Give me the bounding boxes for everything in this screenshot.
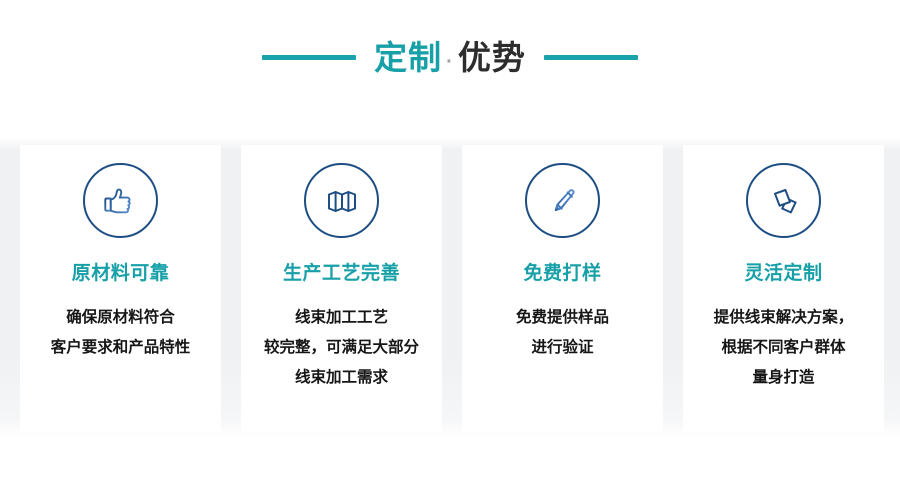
heading-rule-left [262, 55, 356, 60]
card-title: 原材料可靠 [72, 263, 170, 286]
advantage-card[interactable]: 生产工艺完善 线束加工工艺 较完整，可满足大部分 线束加工需求 [241, 145, 442, 433]
card-title: 生产工艺完善 [283, 263, 400, 286]
card-description-line: 量身打造 [689, 363, 878, 393]
advantage-card[interactable]: 原材料可靠 确保原材料符合 客户要求和产品特性 [20, 145, 221, 433]
thumbs-up-icon [101, 181, 141, 221]
advantage-card[interactable]: 灵活定制 提供线束解决方案， 根据不同客户群体 量身打造 [683, 145, 884, 433]
advantages-section: 定制 · 优势 [0, 0, 900, 499]
card-description-line: 线束加工工艺 [247, 303, 436, 333]
card-description: 线束加工工艺 较完整，可满足大部分 线束加工需求 [241, 303, 442, 393]
card-description-line: 提供线束解决方案， [689, 303, 878, 333]
advantage-card-list: 原材料可靠 确保原材料符合 客户要求和产品特性 [20, 145, 885, 433]
card-description: 确保原材料符合 客户要求和产品特性 [20, 303, 221, 363]
heading-rule-right [544, 55, 638, 60]
card-title: 灵活定制 [744, 263, 822, 286]
card-description: 免费提供样品 进行验证 [462, 303, 663, 363]
advantage-card[interactable]: 免费打样 免费提供样品 进行验证 [462, 145, 663, 433]
card-description: 提供线束解决方案， 根据不同客户群体 量身打造 [683, 303, 884, 393]
icon-circle [304, 163, 379, 238]
card-description-line: 进行验证 [468, 333, 657, 363]
card-description-line: 免费提供样品 [468, 303, 657, 333]
card-description-line: 客户要求和产品特性 [26, 333, 215, 363]
heading-separator-dot: · [442, 52, 458, 72]
icon-circle [525, 163, 600, 238]
card-title: 免费打样 [523, 263, 601, 286]
heading-accent-text: 定制 [374, 41, 442, 74]
card-description-line: 线束加工需求 [247, 363, 436, 393]
heading-text: 定制 · 优势 [374, 41, 526, 74]
icon-circle [746, 163, 821, 238]
overlapping-cards-icon [764, 181, 804, 221]
card-description-line: 根据不同客户群体 [689, 333, 878, 363]
pencil-icon [543, 181, 583, 221]
heading-main-text: 优势 [458, 41, 526, 74]
icon-circle [83, 163, 158, 238]
card-description-line: 确保原材料符合 [26, 303, 215, 333]
folded-map-icon [322, 181, 362, 221]
section-heading: 定制 · 优势 [0, 26, 900, 88]
card-description-line: 较完整，可满足大部分 [247, 333, 436, 363]
